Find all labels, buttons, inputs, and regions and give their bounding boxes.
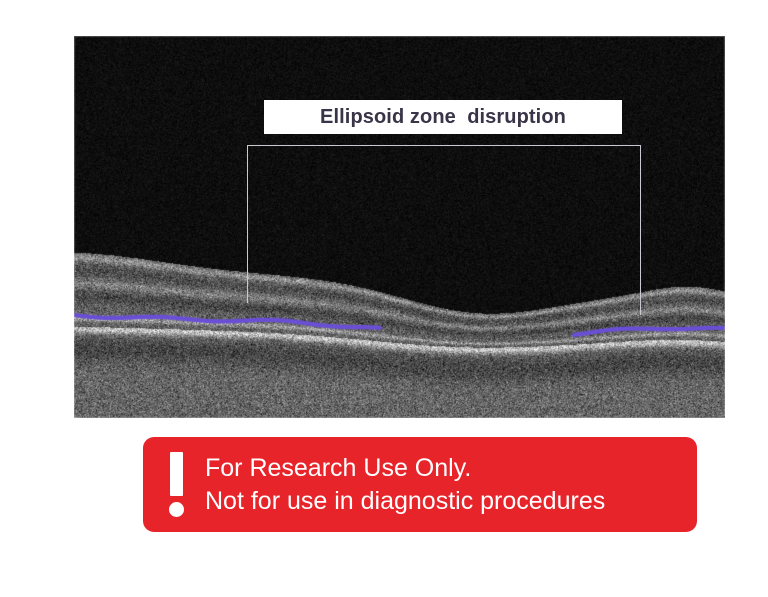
annotation-rect-right-edge	[640, 145, 641, 315]
ellipsoid-zone-label-text: Ellipsoid zone disruption	[320, 106, 566, 129]
ellipsoid-zone-label-box: Ellipsoid zone disruption	[264, 100, 622, 134]
exclamation-dot	[169, 502, 184, 517]
oct-scan-image	[74, 36, 725, 418]
disclaimer-line-1: For Research Use Only.	[205, 452, 605, 485]
exclamation-stem	[170, 452, 183, 496]
research-use-disclaimer-banner: For Research Use Only. Not for use in di…	[143, 437, 697, 532]
disclaimer-text-block: For Research Use Only. Not for use in di…	[205, 452, 605, 518]
exclamation-icon	[165, 452, 191, 518]
disclaimer-line-2: Not for use in diagnostic procedures	[205, 485, 605, 518]
oct-scan-figure	[74, 36, 725, 418]
annotation-rect-left-edge	[247, 145, 248, 303]
annotation-rect-top-edge	[247, 145, 641, 146]
